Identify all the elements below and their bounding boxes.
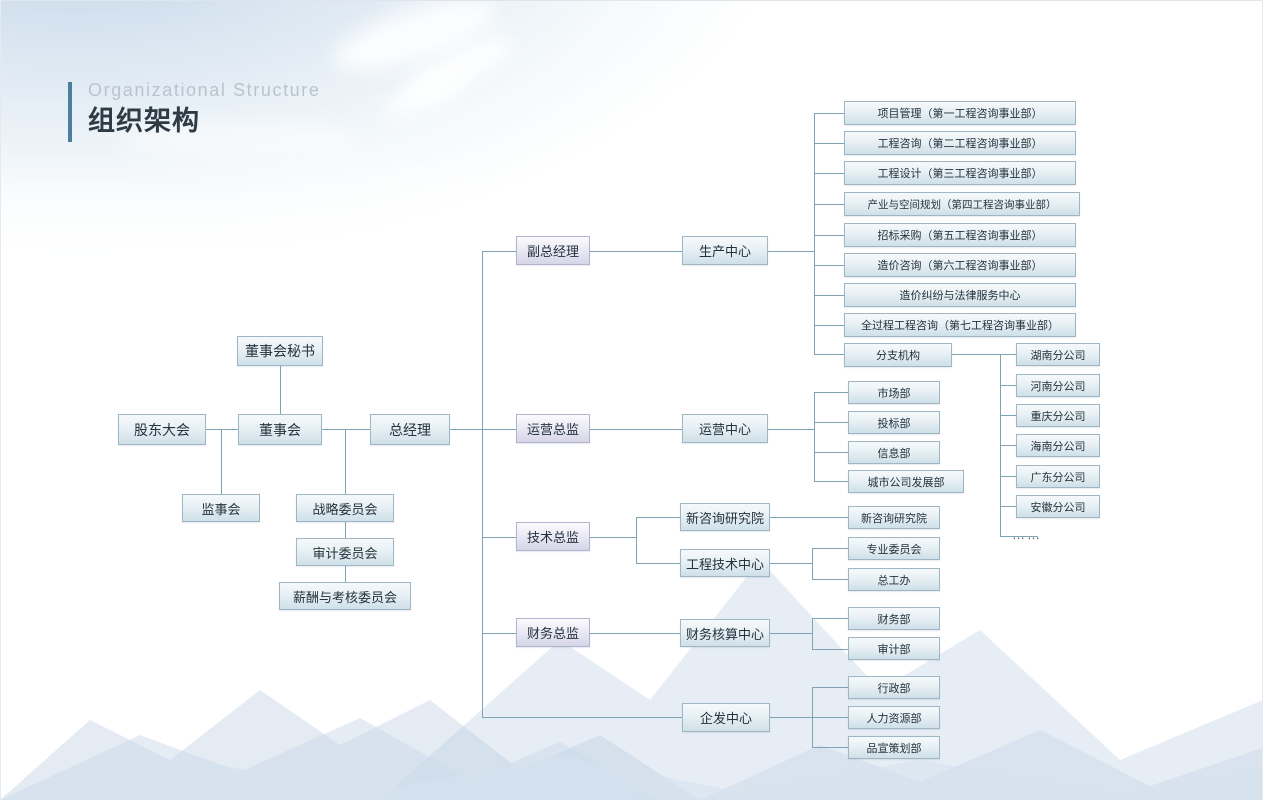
connector-trunk: [482, 251, 483, 718]
page-title-block: Organizational Structure 组织架构: [68, 78, 321, 140]
connector: [814, 235, 844, 236]
connector: [206, 429, 238, 430]
connector: [812, 579, 848, 580]
connector: [482, 537, 516, 538]
connector-trunk: [812, 618, 813, 649]
node-operations-unit[interactable]: 信息部: [848, 441, 940, 464]
page-title-english: Organizational Structure: [88, 78, 321, 102]
node-enterprise-development-center[interactable]: 企发中心: [682, 703, 770, 732]
connector: [636, 563, 680, 564]
connector: [814, 325, 844, 326]
connector: [1000, 506, 1016, 507]
connector: [770, 633, 812, 634]
connector: [636, 517, 680, 518]
connector: [482, 633, 516, 634]
slide-canvas: Organizational Structure 组织架构: [0, 0, 1263, 800]
connector: [590, 429, 686, 430]
connector: [812, 649, 848, 650]
connector: [322, 429, 370, 430]
connector: [482, 251, 516, 252]
node-production-unit[interactable]: 造价咨询（第六工程咨询事业部）: [844, 253, 1076, 277]
node-enterprise-unit[interactable]: 品宣策划部: [848, 736, 940, 759]
connector: [812, 687, 848, 688]
connector: [814, 204, 844, 205]
connector: [345, 566, 346, 582]
connector: [636, 517, 637, 563]
cloud-icon: [379, 65, 472, 125]
connector: [770, 717, 812, 718]
node-finance-unit[interactable]: 财务部: [848, 607, 940, 630]
node-tech-unit[interactable]: 专业委员会: [848, 537, 940, 560]
node-production-unit[interactable]: 造价纠纷与法律服务中心: [844, 283, 1076, 307]
connector-trunk: [812, 548, 813, 579]
connector: [812, 548, 848, 549]
frame-left-border: [0, 0, 1, 800]
connector: [814, 295, 844, 296]
connector: [1000, 354, 1016, 355]
connector: [770, 517, 848, 518]
connector: [590, 251, 686, 252]
title-accent-bar: [68, 82, 72, 142]
node-audit-committee[interactable]: 审计委员会: [296, 538, 394, 566]
connector: [345, 522, 346, 538]
connector: [768, 251, 814, 252]
connector: [221, 429, 222, 494]
node-operations-director[interactable]: 运营总监: [516, 414, 590, 443]
node-production-unit[interactable]: 全过程工程咨询（第七工程咨询事业部）: [844, 313, 1076, 337]
connector-trunk: [814, 392, 815, 481]
node-strategy-committee[interactable]: 战略委员会: [296, 494, 394, 522]
node-branch-company[interactable]: 重庆分公司: [1016, 404, 1100, 427]
connector: [770, 563, 812, 564]
node-board-secretary[interactable]: 董事会秘书: [237, 336, 323, 366]
node-research-unit[interactable]: 新咨询研究院: [848, 506, 940, 529]
connector: [814, 354, 844, 355]
node-branch-company[interactable]: 安徽分公司: [1016, 495, 1100, 518]
connector: [1000, 415, 1016, 416]
node-board-of-directors[interactable]: 董事会: [238, 414, 322, 445]
node-operations-unit[interactable]: 市场部: [848, 381, 940, 404]
node-finance-director[interactable]: 财务总监: [516, 618, 590, 647]
node-technical-director[interactable]: 技术总监: [516, 522, 590, 551]
node-branch-company[interactable]: 广东分公司: [1016, 465, 1100, 488]
node-tech-unit[interactable]: 总工办: [848, 568, 940, 591]
connector: [590, 537, 636, 538]
connector: [450, 429, 482, 430]
connector: [812, 717, 848, 718]
connector: [814, 422, 848, 423]
cloud-icon: [326, 0, 503, 85]
node-operations-unit[interactable]: 投标部: [848, 411, 940, 434]
connector: [814, 143, 844, 144]
node-shareholders-meeting[interactable]: 股东大会: [118, 414, 206, 445]
node-branch-offices[interactable]: 分支机构: [844, 343, 952, 367]
connector: [1000, 476, 1016, 477]
node-branch-company[interactable]: 河南分公司: [1016, 374, 1100, 397]
node-research-institute[interactable]: 新咨询研究院: [680, 503, 770, 531]
node-production-center[interactable]: 生产中心: [682, 236, 768, 265]
frame-top-border: [0, 0, 1263, 1]
connector: [814, 173, 844, 174]
node-branch-company[interactable]: 湖南分公司: [1016, 343, 1100, 366]
node-production-unit[interactable]: 项目管理（第一工程咨询事业部）: [844, 101, 1076, 125]
connector: [768, 429, 814, 430]
node-production-unit[interactable]: 招标采购（第五工程咨询事业部）: [844, 223, 1076, 247]
connector: [814, 392, 848, 393]
connector-trunk: [814, 113, 815, 354]
node-finance-accounting-center[interactable]: 财务核算中心: [680, 619, 770, 647]
connector: [1000, 445, 1016, 446]
page-title-chinese: 组织架构: [88, 102, 321, 140]
connector: [280, 366, 281, 415]
node-compensation-committee[interactable]: 薪酬与考核委员会: [279, 582, 411, 610]
node-enterprise-unit[interactable]: 人力资源部: [848, 706, 940, 729]
connector: [482, 717, 688, 718]
connector: [812, 747, 848, 748]
node-production-unit[interactable]: 产业与空间规划（第四工程咨询事业部）: [844, 192, 1080, 216]
connector: [590, 633, 686, 634]
node-general-manager[interactable]: 总经理: [370, 414, 450, 445]
connector: [814, 113, 844, 114]
node-operations-unit[interactable]: 城市公司发展部: [848, 470, 964, 493]
connector: [952, 354, 1000, 355]
connector: [814, 481, 848, 482]
node-finance-unit[interactable]: 审计部: [848, 637, 940, 660]
branch-more-ellipsis: ……: [1012, 527, 1042, 542]
connector: [814, 265, 844, 266]
node-production-unit[interactable]: 工程设计（第三工程咨询事业部）: [844, 161, 1076, 185]
connector: [345, 429, 346, 494]
node-supervisory-board[interactable]: 监事会: [182, 494, 260, 522]
connector: [814, 452, 848, 453]
connector: [482, 429, 516, 430]
connector: [812, 618, 848, 619]
node-operations-center[interactable]: 运营中心: [682, 414, 768, 443]
node-deputy-general-manager[interactable]: 副总经理: [516, 236, 590, 265]
node-branch-company[interactable]: 海南分公司: [1016, 434, 1100, 457]
connector: [1000, 385, 1016, 386]
node-engineering-tech-center[interactable]: 工程技术中心: [680, 549, 770, 577]
node-production-unit[interactable]: 工程咨询（第二工程咨询事业部）: [844, 131, 1076, 155]
cloud-icon: [399, 25, 522, 108]
node-enterprise-unit[interactable]: 行政部: [848, 676, 940, 699]
